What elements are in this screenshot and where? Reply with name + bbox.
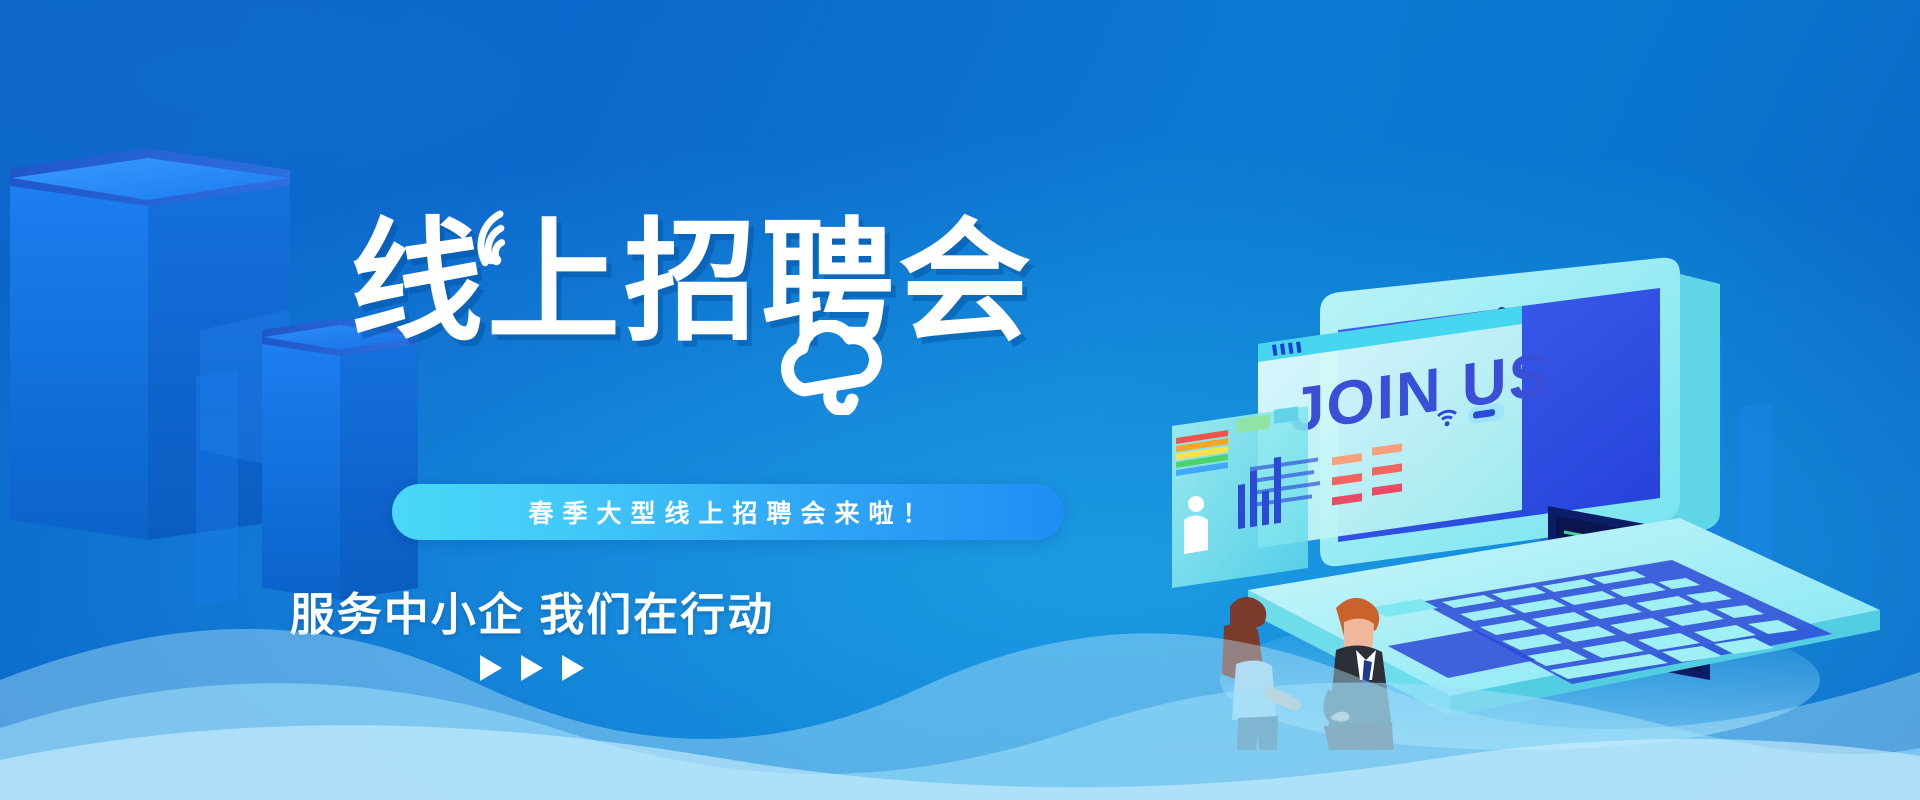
banner-root: 线上招聘会 春季大型线上招聘会来啦！ 服务中小企 我们在行动 (0, 0, 1920, 800)
bottom-waves (0, 560, 1920, 800)
subtitle-pill-label: 春季大型线上招聘会来啦！ (519, 494, 936, 530)
building-left-tall (10, 148, 290, 540)
rainbow-strip (1176, 430, 1228, 476)
cloud-icon (770, 320, 900, 415)
headline-label: 线上招聘会 (350, 209, 1035, 357)
subtitle-pill: 春季大型线上招聘会来啦！ (392, 484, 1064, 540)
wifi-signal-icon (468, 210, 528, 268)
